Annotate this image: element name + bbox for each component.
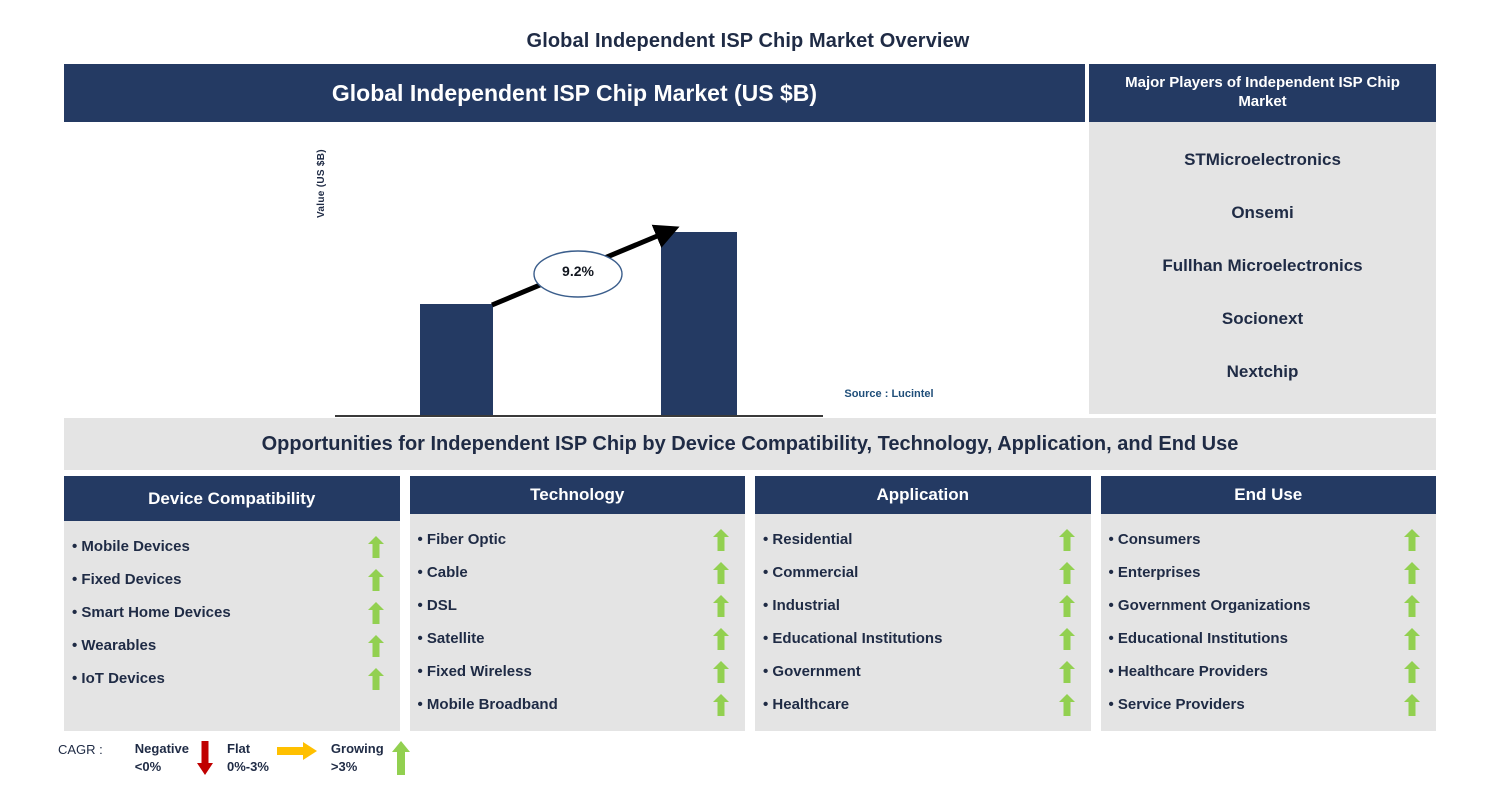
legend-range: <0% xyxy=(135,758,189,776)
growing-arrow-icon xyxy=(368,536,384,558)
list-item: • Enterprises xyxy=(1109,556,1427,589)
growing-arrow-icon xyxy=(1059,562,1075,584)
market-chart-panel: Global Independent ISP Chip Market (US $… xyxy=(64,64,1085,414)
segment-label: • Fixed Devices xyxy=(72,571,181,588)
segment-label: • Commercial xyxy=(763,564,858,581)
growing-arrow-icon xyxy=(713,694,729,716)
segment-label: • Industrial xyxy=(763,597,840,614)
column-end-use: End Use • Consumers • Enterprises • Gove… xyxy=(1101,476,1437,731)
segment-label: • IoT Devices xyxy=(72,670,165,687)
list-item: Socionext xyxy=(1222,309,1303,329)
down-arrow-icon xyxy=(197,741,213,775)
bar-2031 xyxy=(661,232,737,415)
list-item: • Educational Institutions xyxy=(1109,622,1427,655)
legend-name: Growing xyxy=(331,740,384,758)
growing-arrow-icon xyxy=(1404,595,1420,617)
column-body: • Fiber Optic • Cable • DSL • Satellite … xyxy=(410,514,746,731)
list-item: • Commercial xyxy=(763,556,1081,589)
legend-text-growing: Growing >3% xyxy=(331,740,384,775)
legend-range: >3% xyxy=(331,758,384,776)
list-item: • Fixed Wireless xyxy=(418,655,736,688)
segment-label: • Residential xyxy=(763,531,852,548)
segment-label: • Wearables xyxy=(72,637,156,654)
growing-arrow-icon xyxy=(1404,661,1420,683)
column-application: Application • Residential • Commercial •… xyxy=(755,476,1091,731)
list-item: • Consumers xyxy=(1109,523,1427,556)
legend-name: Flat xyxy=(227,740,269,758)
column-header: Technology xyxy=(410,476,746,514)
segment-label: • Healthcare xyxy=(763,696,849,713)
growing-arrow-icon xyxy=(1059,628,1075,650)
segment-label: • Government Organizations xyxy=(1109,597,1311,614)
legend-text-flat: Flat 0%-3% xyxy=(227,740,269,775)
column-technology: Technology • Fiber Optic • Cable • DSL •… xyxy=(410,476,746,731)
chart-plot-area: Value (US $B) 2025 2031 9.2% Source : Lu… xyxy=(64,122,1085,414)
growing-arrow-icon xyxy=(713,595,729,617)
cagr-value-label: 9.2% xyxy=(536,263,620,279)
growing-arrow-icon xyxy=(1059,595,1075,617)
growing-arrow-icon xyxy=(368,635,384,657)
list-item: • Government xyxy=(763,655,1081,688)
growing-arrow-icon xyxy=(713,661,729,683)
segment-label: • Educational Institutions xyxy=(763,630,942,647)
column-header: Application xyxy=(755,476,1091,514)
growing-arrow-icon xyxy=(1404,694,1420,716)
list-item: • Cable xyxy=(418,556,736,589)
segment-label: • Smart Home Devices xyxy=(72,604,231,621)
right-arrow-icon xyxy=(277,741,317,761)
major-players-panel: Major Players of Independent ISP Chip Ma… xyxy=(1089,64,1436,414)
segment-label: • Consumers xyxy=(1109,531,1201,548)
segment-label: • Fixed Wireless xyxy=(418,663,532,680)
growing-arrow-icon xyxy=(1059,694,1075,716)
legend-name: Negative xyxy=(135,740,189,758)
growing-arrow-icon xyxy=(713,628,729,650)
list-item: • Wearables xyxy=(72,629,390,662)
growing-arrow-icon xyxy=(368,668,384,690)
segment-label: • Healthcare Providers xyxy=(1109,663,1269,680)
column-body: • Mobile Devices • Fixed Devices • Smart… xyxy=(64,521,400,731)
segment-label: • Cable xyxy=(418,564,468,581)
list-item: • Fiber Optic xyxy=(418,523,736,556)
segment-label: • Educational Institutions xyxy=(1109,630,1288,647)
growing-arrow-icon xyxy=(368,602,384,624)
legend-item-growing: Growing >3% xyxy=(331,740,410,775)
segment-label: • Satellite xyxy=(418,630,485,647)
major-players-header: Major Players of Independent ISP Chip Ma… xyxy=(1089,64,1436,122)
list-item: • Smart Home Devices xyxy=(72,596,390,629)
growing-arrow-icon xyxy=(368,569,384,591)
column-device-compatibility: Device Compatibility • Mobile Devices • … xyxy=(64,476,400,731)
list-item: • Mobile Broadband xyxy=(418,688,736,721)
opportunities-banner: Opportunities for Independent ISP Chip b… xyxy=(64,418,1436,470)
list-item: • DSL xyxy=(418,589,736,622)
list-item: • Service Providers xyxy=(1109,688,1427,721)
segment-columns: Device Compatibility • Mobile Devices • … xyxy=(64,476,1436,731)
growing-arrow-icon xyxy=(1404,529,1420,551)
chart-y-axis-label: Value (US $B) xyxy=(316,149,327,218)
legend-item-negative: Negative <0% xyxy=(135,740,213,775)
segment-label: • Mobile Devices xyxy=(72,538,190,555)
growing-arrow-icon xyxy=(1404,562,1420,584)
major-players-list: STMicroelectronics Onsemi Fullhan Microe… xyxy=(1089,122,1436,414)
chart-panel-header: Global Independent ISP Chip Market (US $… xyxy=(64,64,1085,122)
segment-label: • Mobile Broadband xyxy=(418,696,558,713)
cagr-legend: CAGR : Negative <0% Flat 0%-3% Growing >… xyxy=(58,740,424,775)
growing-arrow-icon xyxy=(1059,529,1075,551)
page-title: Global Independent ISP Chip Market Overv… xyxy=(0,30,1496,53)
column-header: Device Compatibility xyxy=(64,476,400,521)
list-item: Nextchip xyxy=(1227,362,1299,382)
column-body: • Consumers • Enterprises • Government O… xyxy=(1101,514,1437,731)
bar-2025 xyxy=(420,304,493,415)
list-item: • Industrial xyxy=(763,589,1081,622)
column-header: End Use xyxy=(1101,476,1437,514)
segment-label: • Fiber Optic xyxy=(418,531,507,548)
segment-label: • Service Providers xyxy=(1109,696,1245,713)
list-item: • Satellite xyxy=(418,622,736,655)
list-item: Fullhan Microelectronics xyxy=(1162,256,1362,276)
list-item: STMicroelectronics xyxy=(1184,150,1341,170)
legend-text-negative: Negative <0% xyxy=(135,740,189,775)
segment-label: • Government xyxy=(763,663,861,680)
list-item: • Healthcare Providers xyxy=(1109,655,1427,688)
infographic-page: Global Independent ISP Chip Market Overv… xyxy=(0,0,1496,812)
legend-item-flat: Flat 0%-3% xyxy=(227,740,317,775)
legend-range: 0%-3% xyxy=(227,758,269,776)
list-item: • Government Organizations xyxy=(1109,589,1427,622)
growing-arrow-icon xyxy=(713,529,729,551)
chart-source-note: Source : Lucintel xyxy=(764,388,1014,400)
growing-arrow-icon xyxy=(1059,661,1075,683)
growing-arrow-icon xyxy=(713,562,729,584)
chart-x-axis-line xyxy=(335,415,823,417)
list-item: • Fixed Devices xyxy=(72,563,390,596)
segment-label: • Enterprises xyxy=(1109,564,1201,581)
list-item: • Healthcare xyxy=(763,688,1081,721)
list-item: • Mobile Devices xyxy=(72,530,390,563)
growing-arrow-icon xyxy=(1404,628,1420,650)
list-item: • Residential xyxy=(763,523,1081,556)
list-item: • IoT Devices xyxy=(72,662,390,695)
list-item: • Educational Institutions xyxy=(763,622,1081,655)
column-body: • Residential • Commercial • Industrial … xyxy=(755,514,1091,731)
up-arrow-icon xyxy=(392,741,410,775)
list-item: Onsemi xyxy=(1231,203,1293,223)
cagr-legend-title: CAGR : xyxy=(58,740,103,757)
segment-label: • DSL xyxy=(418,597,457,614)
